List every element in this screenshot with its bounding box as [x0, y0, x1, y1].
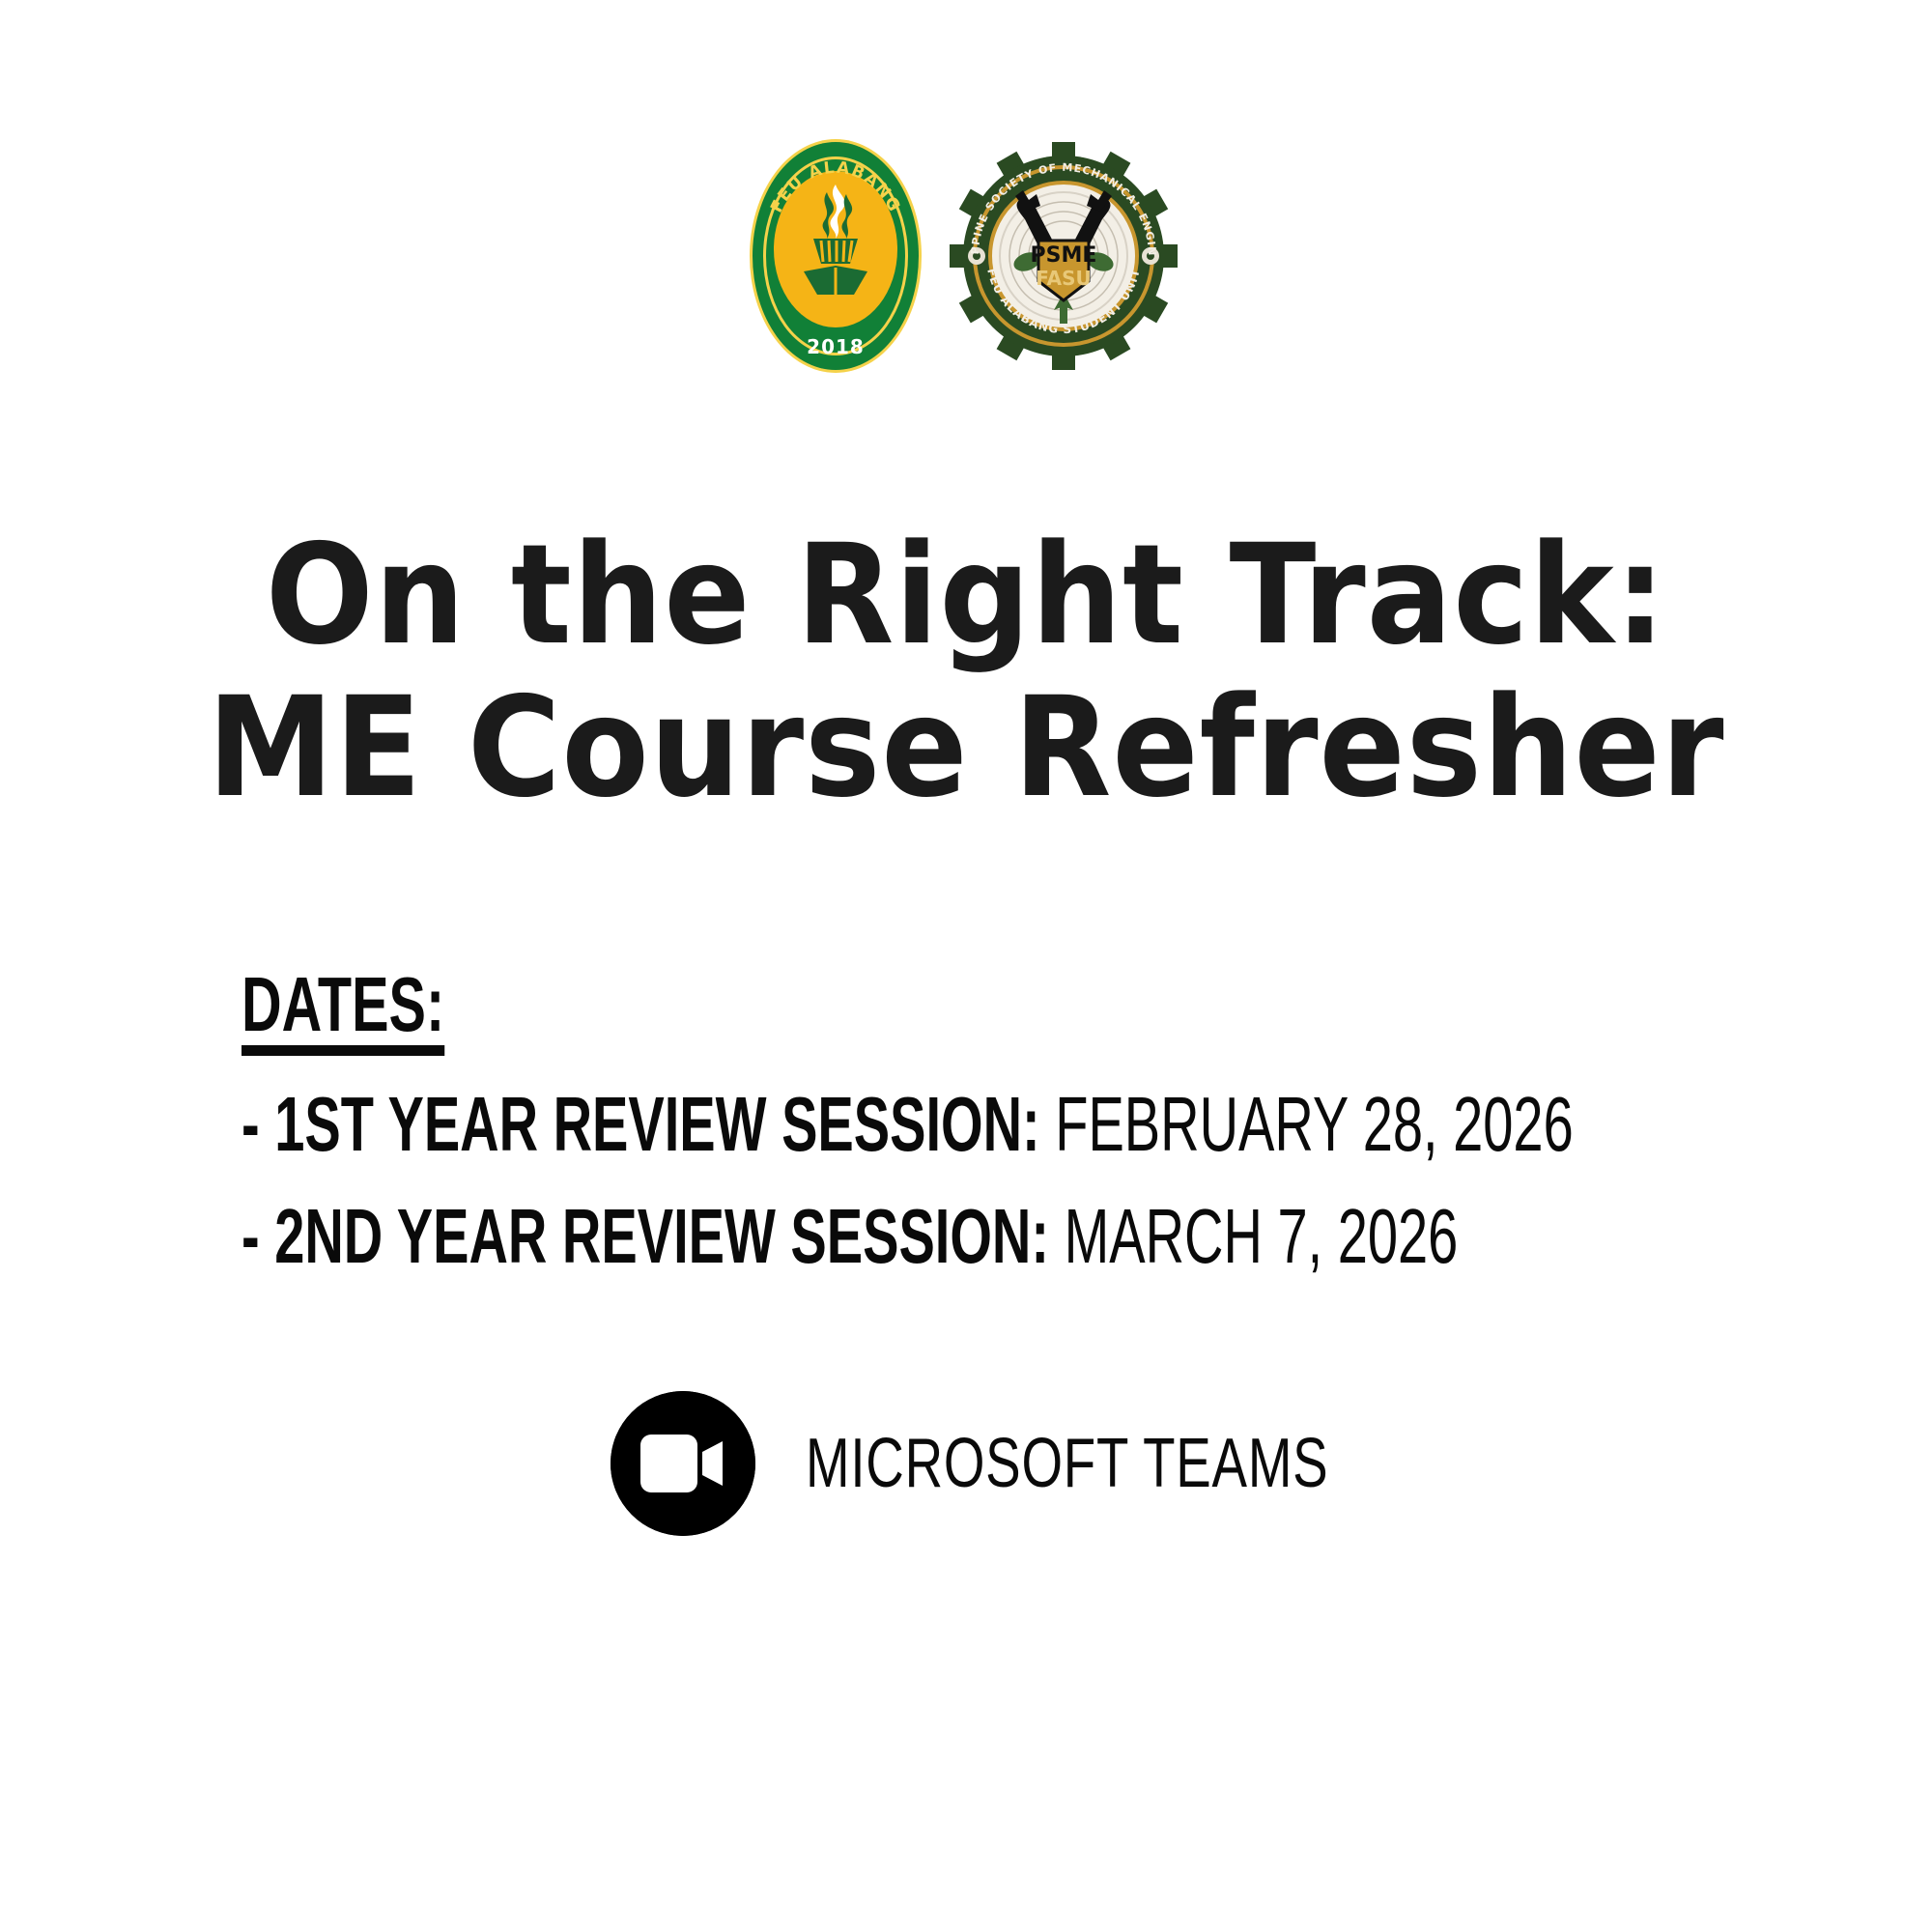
logo-row: FEU ALABANG — [0, 135, 1932, 377]
date-value-2: MARCH 7, 2026 — [1065, 1193, 1459, 1279]
dates-heading: DATES: — [241, 966, 444, 1056]
date-label-2: 2ND YEAR REVIEW SESSION: — [274, 1193, 1049, 1279]
date-label-1: 1ST YEAR REVIEW SESSION: — [274, 1081, 1039, 1167]
date-value-1: FEBRUARY 28, 2026 — [1055, 1081, 1573, 1167]
date-item-2: - 2ND YEAR REVIEW SESSION: MARCH 7, 2026 — [241, 1193, 1391, 1280]
title-line-2: ME Course Refresher — [77, 674, 1855, 821]
feu-torch-icon — [794, 183, 877, 297]
psme-fasu-logo: PHILIPPINE SOCIETY OF MECHANICAL ENGINEE… — [948, 140, 1179, 372]
psme-monogram-top: PSME — [1031, 243, 1097, 268]
date-item-1: - 1ST YEAR REVIEW SESSION: FEBRUARY 28, … — [241, 1081, 1391, 1168]
psme-monogram-bottom: FASU — [1036, 267, 1092, 290]
feu-year-label: 2018 — [753, 335, 919, 358]
title-line-1: On the Right Track: — [77, 522, 1855, 668]
video-camera-icon — [611, 1391, 755, 1536]
dates-section: DATES: - 1ST YEAR REVIEW SESSION: FEBRUA… — [241, 966, 1884, 1279]
date-bullet-2: - — [241, 1193, 260, 1279]
poster-canvas: FEU ALABANG — [0, 0, 1932, 1932]
platform-name: MICROSOFT TEAMS — [806, 1429, 1328, 1498]
date-bullet-1: - — [241, 1081, 260, 1167]
feu-alabang-logo: FEU ALABANG — [753, 142, 919, 370]
event-title: On the Right Track: ME Course Refresher — [0, 522, 1932, 820]
platform-section: MICROSOFT TEAMS — [611, 1391, 1493, 1536]
